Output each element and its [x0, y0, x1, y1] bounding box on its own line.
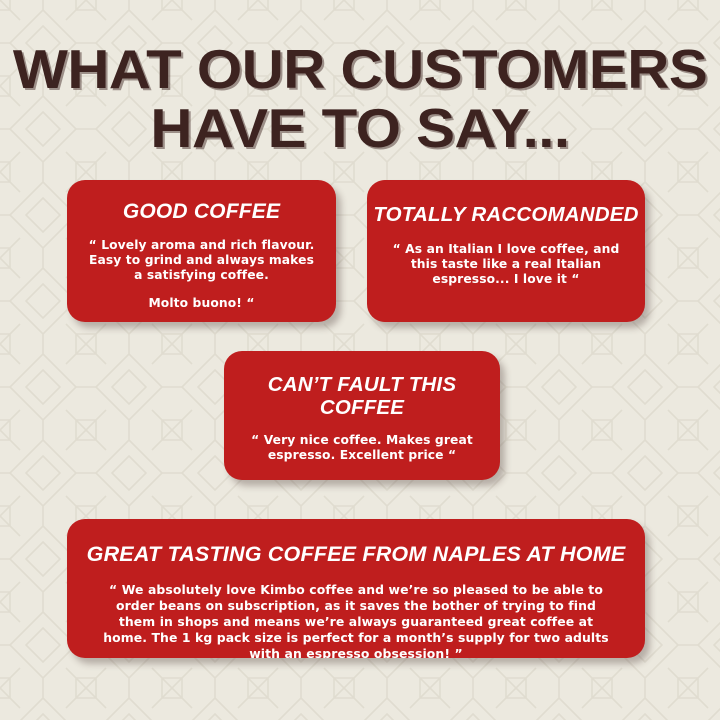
testimonial-quote-paragraph: “ Lovely aroma and rich flavour. Easy to…: [83, 238, 320, 283]
page-title-line-2: HAVE TO SAY...: [0, 102, 720, 155]
testimonial-title: TOTALLY RACCOMANDED: [367, 204, 645, 227]
testimonial-card-good-coffee: GOOD COFFEE “ Lovely aroma and rich flav…: [67, 180, 336, 322]
testimonial-card-totally-raccomanded: TOTALLY RACCOMANDED “ As an Italian I lo…: [367, 180, 645, 322]
page-title: WHAT OUR CUSTOMERS HAVE TO SAY...: [0, 43, 720, 155]
testimonial-quote-paragraph: “ We absolutely love Kimbo coffee and we…: [97, 582, 615, 658]
testimonial-quote-paragraph: “ Very nice coffee. Makes great espresso…: [250, 433, 474, 463]
testimonial-quote: “ As an Italian I love coffee, and this …: [367, 242, 645, 287]
testimonial-quote: “ We absolutely love Kimbo coffee and we…: [67, 582, 645, 658]
testimonial-card-cant-fault-this-coffee: CAN’T FAULT THIS COFFEE “ Very nice coff…: [224, 351, 500, 480]
testimonial-quote-paragraph: Molto buono! “: [83, 296, 320, 311]
testimonial-quote: “ Very nice coffee. Makes great espresso…: [224, 433, 500, 463]
testimonial-title: GREAT TASTING COFFEE FROM NAPLES AT HOME: [67, 542, 645, 566]
page-title-line-1: WHAT OUR CUSTOMERS: [0, 43, 720, 96]
testimonial-title: CAN’T FAULT THIS COFFEE: [224, 374, 500, 420]
testimonial-quote: “ Lovely aroma and rich flavour. Easy to…: [67, 238, 336, 311]
testimonial-quote-paragraph: “ As an Italian I love coffee, and this …: [379, 242, 633, 287]
testimonial-card-great-tasting-coffee: GREAT TASTING COFFEE FROM NAPLES AT HOME…: [67, 519, 645, 658]
testimonials-poster: WHAT OUR CUSTOMERS HAVE TO SAY... GOOD C…: [0, 0, 720, 720]
testimonial-title: GOOD COFFEE: [67, 200, 336, 224]
